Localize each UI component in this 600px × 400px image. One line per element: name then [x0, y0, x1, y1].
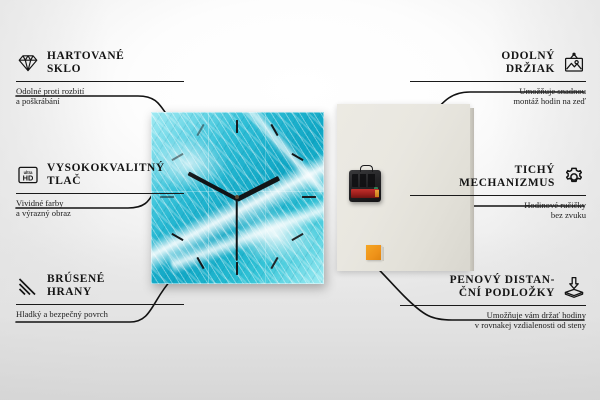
ultra-hd-icon: ultra HD	[16, 163, 40, 187]
feature-title-line2: SKLO	[47, 63, 124, 76]
feature-desc-line2: a výrazný obraz	[16, 208, 184, 219]
feature-desc-line1: Odolné proti rozbití	[16, 86, 184, 97]
battery	[351, 189, 379, 198]
clock-movement	[349, 170, 381, 202]
feature-desc-line1: Hladký a bezpečný povrch	[16, 309, 184, 320]
feature-title-line1: PENOVÝ DISTAN-	[450, 274, 555, 287]
feature-title-line1: HARTOVANÉ	[47, 50, 124, 63]
feature-desc-line1: Hodinové ručičky	[410, 200, 586, 211]
feature-title-line1: ODOLNÝ	[501, 50, 555, 63]
feature-desc-line1: Umožňuje snadnou	[410, 86, 586, 97]
feature-durable-hanger[interactable]: ODOLNÝ DRŽIAK Umožňuje snadnou montáž ho…	[410, 50, 586, 107]
feature-title-line1: VYSOKOKVALITNÝ	[47, 162, 165, 175]
feature-foam-spacers[interactable]: PENOVÝ DISTAN- ČNÍ PODLOŽKY Umožňuje vám…	[400, 274, 586, 331]
foam-spacer-pad	[366, 245, 381, 260]
picture-frame-icon	[562, 51, 586, 75]
feature-tempered-glass[interactable]: HARTOVANÉ SKLO Odolné proti rozbití a po…	[16, 50, 184, 107]
infographic-canvas: HARTOVANÉ SKLO Odolné proti rozbití a po…	[0, 0, 600, 400]
movement-slots	[352, 174, 378, 187]
feature-desc-line2: bez zvuku	[410, 210, 586, 221]
feature-title-line2: ČNÍ PODLOŽKY	[450, 287, 555, 300]
press-down-pad-icon	[562, 275, 586, 299]
feature-desc-line2: v rovnakej vzdialenosti od steny	[400, 320, 586, 331]
feature-divider	[16, 304, 184, 305]
feature-title-line1: TICHÝ	[459, 164, 555, 177]
feature-silent-mechanism[interactable]: TICHÝ MECHANIZMUS Hodinové ručičky bez z…	[410, 164, 586, 221]
gear-icon	[562, 165, 586, 189]
svg-text:HD: HD	[23, 174, 34, 183]
feature-desc-line1: Umožňuje vám držať hodiny	[400, 310, 586, 321]
feature-title-line1: BRÚSENÉ	[47, 273, 105, 286]
feature-desc-line2: a poškrábání	[16, 96, 184, 107]
diagonal-stripes-icon	[16, 274, 40, 298]
feature-divider	[410, 81, 586, 82]
feature-divider	[16, 81, 184, 82]
feature-title-line2: DRŽIAK	[501, 63, 555, 76]
feature-title-line2: MECHANIZMUS	[459, 177, 555, 190]
feature-divider	[16, 193, 184, 194]
feature-divider	[400, 305, 586, 306]
diamond-icon	[16, 51, 40, 75]
feature-divider	[410, 195, 586, 196]
feature-desc-line1: Vividné farby	[16, 198, 184, 209]
hanger-bracket-icon	[360, 165, 373, 172]
feature-ground-edges[interactable]: BRÚSENÉ HRANY Hladký a bezpečný povrch	[16, 273, 184, 319]
feature-high-quality-print[interactable]: ultra HD VYSOKOKVALITNÝ TLAČ Vividné far…	[16, 162, 184, 219]
feature-desc-line2: montáž hodin na zeď	[410, 96, 586, 107]
feature-title-line2: TLAČ	[47, 175, 165, 188]
feature-title-line2: HRANY	[47, 286, 105, 299]
